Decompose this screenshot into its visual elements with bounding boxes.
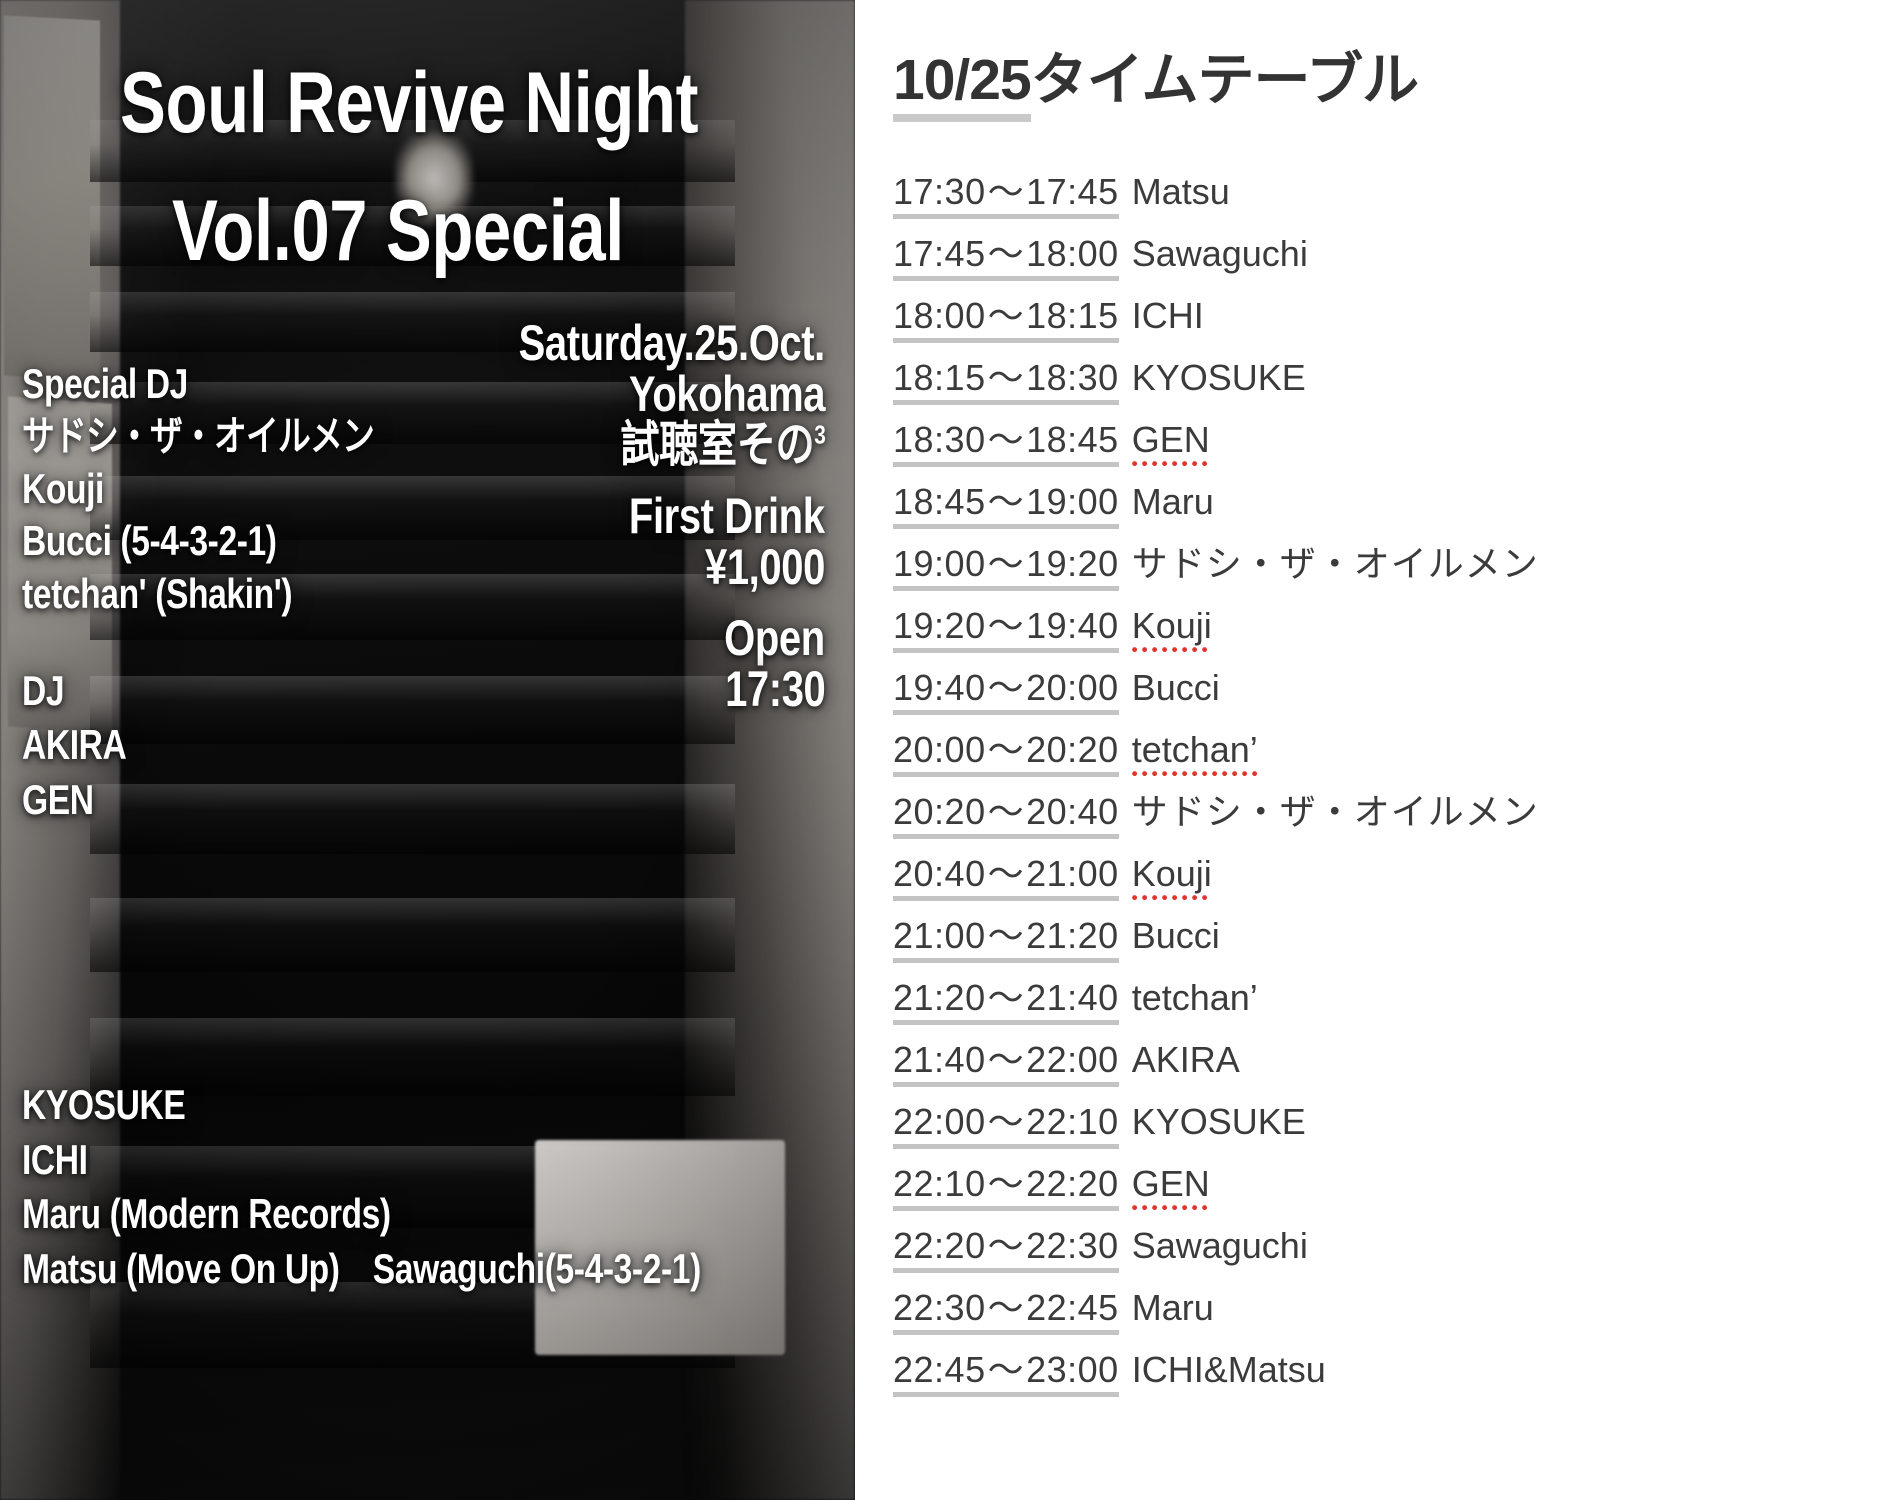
flyer-dj-2: GEN — [22, 773, 550, 828]
flyer-dj-5: Maru (Modern Records) — [22, 1187, 686, 1242]
timetable-row-time: 17:30〜17:45 — [893, 174, 1119, 219]
timetable-row-start: 18:15 — [893, 357, 986, 398]
timetable-range-separator: 〜 — [988, 853, 1025, 894]
timetable-row-artist: KYOSUKE — [1132, 360, 1306, 405]
timetable-list: 17:30〜17:45Matsu17:45〜18:00Sawaguchi18:0… — [893, 174, 1895, 1414]
timetable-range-separator: 〜 — [988, 419, 1025, 460]
timetable-row-end: 19:00 — [1026, 481, 1119, 522]
timetable-row-start: 20:40 — [893, 853, 986, 894]
flyer-special-dj-1: サドシ・ザ・オイルメン — [22, 411, 550, 463]
flyer-special-dj-4: tetchan' (Shakin') — [22, 568, 550, 621]
timetable-row: 21:20〜21:40tetchan’ — [893, 980, 1895, 1042]
timetable-row-start: 19:20 — [893, 605, 986, 646]
flyer-dj-heading: DJ — [22, 665, 550, 718]
flyer-open-label: Open — [724, 613, 825, 664]
timetable-range-separator: 〜 — [988, 1349, 1025, 1390]
timetable-range-separator: 〜 — [988, 481, 1025, 522]
timetable-row-artist: tetchan’ — [1132, 980, 1258, 1025]
timetable-row: 20:00〜20:20tetchan’ — [893, 732, 1895, 794]
flyer-dj-1: AKIRA — [22, 718, 550, 773]
timetable-row-end: 22:00 — [1026, 1039, 1119, 1080]
timetable-row-artist: Kouji — [1132, 608, 1212, 653]
timetable-row-time: 21:20〜21:40 — [893, 980, 1119, 1025]
flyer-text-overlay: Soul Revive Night Vol.07 Special Saturda… — [0, 0, 855, 1500]
timetable-row-time: 22:10〜22:20 — [893, 1166, 1119, 1211]
timetable-row-artist: KYOSUKE — [1132, 1104, 1306, 1149]
flyer-lineup-column: Special DJ サドシ・ザ・オイルメン Kouji Bucci (5-4-… — [22, 358, 682, 827]
timetable-row: 21:00〜21:20Bucci — [893, 918, 1895, 980]
timetable-row-end: 20:00 — [1026, 667, 1119, 708]
timetable-row-start: 22:00 — [893, 1101, 986, 1142]
timetable-range-separator: 〜 — [988, 1101, 1025, 1142]
timetable-row-artist: ICHI&Matsu — [1132, 1352, 1326, 1397]
timetable-row-artist: ICHI — [1132, 298, 1204, 343]
timetable-row-artist: Bucci — [1132, 918, 1220, 963]
timetable-row-start: 22:10 — [893, 1163, 986, 1204]
timetable-row-end: 18:15 — [1026, 295, 1119, 336]
timetable-row: 21:40〜22:00AKIRA — [893, 1042, 1895, 1104]
timetable-row-start: 17:30 — [893, 171, 986, 212]
timetable-title-rest: タイムテーブル — [1031, 48, 1418, 112]
flyer-dj-3: KYOSUKE — [22, 1078, 686, 1133]
timetable-row-artist: AKIRA — [1132, 1042, 1240, 1087]
timetable-row-start: 20:00 — [893, 729, 986, 770]
flyer-special-dj-heading: Special DJ — [22, 358, 550, 411]
timetable-panel: 10/25タイムテーブル 17:30〜17:45Matsu17:45〜18:00… — [855, 0, 1895, 1500]
timetable-row-time: 19:00〜19:20 — [893, 546, 1119, 591]
flyer-dj-4: ICHI — [22, 1133, 686, 1188]
timetable-row-start: 21:20 — [893, 977, 986, 1018]
timetable-range-separator: 〜 — [988, 729, 1025, 770]
timetable-row-start: 19:00 — [893, 543, 986, 584]
flyer-title-line-2: Vol.07 Special — [172, 188, 624, 274]
timetable-range-separator: 〜 — [988, 357, 1025, 398]
event-flyer-image: Soul Revive Night Vol.07 Special Saturda… — [0, 0, 855, 1500]
timetable-row-end: 20:20 — [1026, 729, 1119, 770]
timetable-range-separator: 〜 — [988, 1039, 1025, 1080]
timetable-row-start: 20:20 — [893, 791, 986, 832]
flyer-lineup-spacer — [22, 621, 682, 665]
timetable-row-end: 19:40 — [1026, 605, 1119, 646]
timetable-row: 22:10〜22:20GEN — [893, 1166, 1895, 1228]
timetable-row-artist: tetchan’ — [1132, 732, 1258, 777]
timetable-row-start: 17:45 — [893, 233, 986, 274]
timetable-range-separator: 〜 — [988, 1225, 1025, 1266]
timetable-row-time: 19:40〜20:00 — [893, 670, 1119, 715]
timetable-row-end: 22:20 — [1026, 1163, 1119, 1204]
timetable-range-separator: 〜 — [988, 1163, 1025, 1204]
timetable-row-artist: Sawaguchi — [1132, 236, 1308, 281]
timetable-range-separator: 〜 — [988, 667, 1025, 708]
timetable-row: 20:20〜20:40サドシ・ザ・オイルメン — [893, 794, 1895, 856]
timetable-row: 22:00〜22:10KYOSUKE — [893, 1104, 1895, 1166]
timetable-range-separator: 〜 — [988, 977, 1025, 1018]
timetable-row-start: 21:00 — [893, 915, 986, 956]
timetable-row-end: 20:40 — [1026, 791, 1119, 832]
timetable-range-separator: 〜 — [988, 233, 1025, 274]
timetable-row: 20:40〜21:00Kouji — [893, 856, 1895, 918]
timetable-row-end: 19:20 — [1026, 543, 1119, 584]
timetable-row-end: 21:40 — [1026, 977, 1119, 1018]
timetable-row-time: 20:00〜20:20 — [893, 732, 1119, 777]
timetable-row-start: 19:40 — [893, 667, 986, 708]
timetable-row-end: 23:00 — [1026, 1349, 1119, 1390]
timetable-row-time: 18:30〜18:45 — [893, 422, 1119, 467]
timetable-row-artist: サドシ・ザ・オイルメン — [1132, 546, 1539, 591]
flyer-venue-superscript: 3 — [814, 420, 825, 450]
timetable-row-end: 21:00 — [1026, 853, 1119, 894]
timetable-row: 22:20〜22:30Sawaguchi — [893, 1228, 1895, 1290]
flyer-dj-bottom-row: Matsu (Move On Up) Sawaguchi(5-4-3-2-1) — [22, 1242, 686, 1297]
timetable-row-end: 18:30 — [1026, 357, 1119, 398]
timetable-row: 18:30〜18:45GEN — [893, 422, 1895, 484]
flyer-open-time: 17:30 — [725, 664, 825, 715]
timetable-row-artist: Sawaguchi — [1132, 1228, 1308, 1273]
timetable-range-separator: 〜 — [988, 543, 1025, 584]
timetable-row-start: 21:40 — [893, 1039, 986, 1080]
timetable-row: 22:45〜23:00ICHI&Matsu — [893, 1352, 1895, 1414]
flyer-special-dj-3: Bucci (5-4-3-2-1) — [22, 515, 550, 568]
timetable-row-time: 20:20〜20:40 — [893, 794, 1119, 839]
timetable-row-end: 18:00 — [1026, 233, 1119, 274]
flyer-first-drink-price: ¥1,000 — [705, 542, 825, 593]
timetable-row: 19:00〜19:20サドシ・ザ・オイルメン — [893, 546, 1895, 608]
timetable-row-artist: Maru — [1132, 484, 1214, 529]
timetable-range-separator: 〜 — [988, 1287, 1025, 1328]
timetable-row-end: 17:45 — [1026, 171, 1119, 212]
timetable-row-start: 18:30 — [893, 419, 986, 460]
timetable-row-time: 21:00〜21:20 — [893, 918, 1119, 963]
timetable-row-start: 18:45 — [893, 481, 986, 522]
timetable-row-start: 22:30 — [893, 1287, 986, 1328]
timetable-row-artist: GEN — [1132, 1166, 1210, 1211]
timetable-row-time: 20:40〜21:00 — [893, 856, 1119, 901]
timetable-row-time: 18:15〜18:30 — [893, 360, 1119, 405]
timetable-row-time: 22:20〜22:30 — [893, 1228, 1119, 1273]
timetable-row: 22:30〜22:45Maru — [893, 1290, 1895, 1352]
flyer-special-dj-2: Kouji — [22, 463, 550, 516]
timetable-row-time: 21:40〜22:00 — [893, 1042, 1119, 1087]
timetable-row-artist: Kouji — [1132, 856, 1212, 901]
timetable-row-end: 18:45 — [1026, 419, 1119, 460]
timetable-row: 19:40〜20:00Bucci — [893, 670, 1895, 732]
timetable-row-time: 22:00〜22:10 — [893, 1104, 1119, 1149]
timetable-row-end: 22:30 — [1026, 1225, 1119, 1266]
flyer-and-timetable-page: Soul Revive Night Vol.07 Special Saturda… — [0, 0, 1895, 1500]
timetable-row: 19:20〜19:40Kouji — [893, 608, 1895, 670]
timetable-range-separator: 〜 — [988, 171, 1025, 212]
timetable-row-artist: GEN — [1132, 422, 1210, 467]
timetable-row-start: 22:45 — [893, 1349, 986, 1390]
timetable-row-artist: Maru — [1132, 1290, 1214, 1335]
timetable-row-end: 21:20 — [1026, 915, 1119, 956]
timetable-row-start: 22:20 — [893, 1225, 986, 1266]
timetable-title-date: 10/25 — [893, 48, 1031, 122]
timetable-row-time: 22:30〜22:45 — [893, 1290, 1119, 1335]
timetable-row-start: 18:00 — [893, 295, 986, 336]
timetable-range-separator: 〜 — [988, 295, 1025, 336]
timetable-row-time: 17:45〜18:00 — [893, 236, 1119, 281]
flyer-lineup-column-bottom: KYOSUKE ICHI Maru (Modern Records) Matsu… — [22, 1078, 852, 1296]
timetable-row: 18:15〜18:30KYOSUKE — [893, 360, 1895, 422]
timetable-row-end: 22:10 — [1026, 1101, 1119, 1142]
timetable-row-time: 22:45〜23:00 — [893, 1352, 1119, 1397]
timetable-title: 10/25タイムテーブル — [893, 34, 1895, 116]
timetable-row-end: 22:45 — [1026, 1287, 1119, 1328]
flyer-title-line-1: Soul Revive Night — [120, 60, 698, 146]
timetable-range-separator: 〜 — [988, 791, 1025, 832]
timetable-row-time: 18:45〜19:00 — [893, 484, 1119, 529]
timetable-row-artist: Matsu — [1132, 174, 1230, 219]
timetable-row-time: 18:00〜18:15 — [893, 298, 1119, 343]
timetable-row-artist: Bucci — [1132, 670, 1220, 715]
timetable-row-time: 19:20〜19:40 — [893, 608, 1119, 653]
timetable-range-separator: 〜 — [988, 605, 1025, 646]
timetable-row: 17:45〜18:00Sawaguchi — [893, 236, 1895, 298]
timetable-row: 17:30〜17:45Matsu — [893, 174, 1895, 236]
timetable-row: 18:45〜19:00Maru — [893, 484, 1895, 546]
timetable-row-artist: サドシ・ザ・オイルメン — [1132, 794, 1539, 839]
timetable-row: 18:00〜18:15ICHI — [893, 298, 1895, 360]
timetable-range-separator: 〜 — [988, 915, 1025, 956]
